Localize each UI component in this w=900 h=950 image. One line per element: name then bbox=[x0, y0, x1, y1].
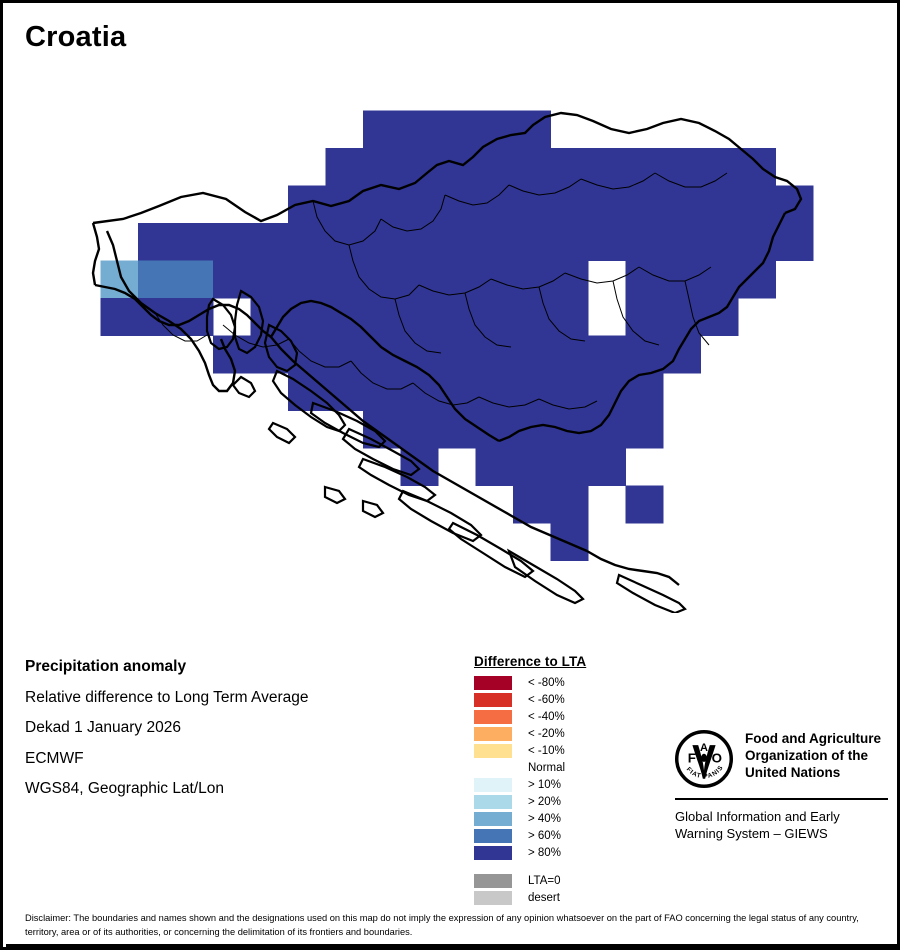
legend-item-swatch bbox=[474, 727, 512, 741]
raster-cell bbox=[738, 186, 776, 224]
fao-name-line-1: Food and Agriculture bbox=[745, 730, 881, 747]
raster-cell bbox=[251, 223, 289, 261]
raster-cell bbox=[626, 486, 664, 524]
raster-cell bbox=[663, 223, 701, 261]
raster-cell bbox=[663, 186, 701, 224]
raster-cell bbox=[176, 223, 214, 261]
svg-text:O: O bbox=[712, 750, 722, 765]
raster-cell bbox=[551, 411, 589, 449]
legend-item-label: Normal bbox=[528, 762, 565, 774]
legend-item-row[interactable]: < -80% bbox=[474, 674, 664, 691]
raster-cell bbox=[551, 223, 589, 261]
raster-cell bbox=[701, 186, 739, 224]
meta-line-period: Dekad 1 January 2026 bbox=[25, 719, 455, 737]
svg-text:F: F bbox=[688, 750, 696, 765]
raster-cell bbox=[588, 148, 626, 186]
raster-cell bbox=[288, 336, 326, 374]
raster-cell bbox=[551, 298, 589, 336]
legend-item-swatch bbox=[474, 744, 512, 758]
legend-item-swatch bbox=[474, 846, 512, 860]
raster-cell bbox=[326, 148, 364, 186]
legend-item-swatch bbox=[474, 676, 512, 690]
fao-name-line-3: United Nations bbox=[745, 764, 881, 781]
meta-line-projection: WGS84, Geographic Lat/Lon bbox=[25, 780, 455, 798]
legend-extra-list: LTA=0desert bbox=[474, 872, 664, 906]
legend-spacer bbox=[474, 861, 664, 872]
legend-item-swatch bbox=[474, 761, 512, 775]
legend-item-label: < -60% bbox=[528, 694, 565, 706]
raster-cell bbox=[288, 223, 326, 261]
raster-cell bbox=[476, 111, 514, 149]
legend-item-label: > 10% bbox=[528, 779, 561, 791]
legend-item-row[interactable]: < -60% bbox=[474, 691, 664, 708]
legend-item-swatch bbox=[474, 693, 512, 707]
raster-cell bbox=[476, 261, 514, 299]
raster-cell bbox=[551, 186, 589, 224]
raster-cell bbox=[401, 298, 439, 336]
raster-cell bbox=[438, 336, 476, 374]
raster-cell bbox=[588, 448, 626, 486]
raster-cell bbox=[438, 298, 476, 336]
raster-cell bbox=[626, 411, 664, 449]
legend-extra-label: desert bbox=[528, 892, 560, 904]
raster-cell bbox=[363, 111, 401, 149]
raster-cell bbox=[401, 111, 439, 149]
legend-item-row[interactable]: > 10% bbox=[474, 776, 664, 793]
legend-item-row[interactable]: Normal bbox=[474, 759, 664, 776]
map-canvas[interactable] bbox=[63, 73, 853, 613]
fao-branding: F A O FIAT PANIS Food and Agriculture Or… bbox=[675, 730, 890, 843]
raster-cell bbox=[626, 223, 664, 261]
map-metadata: Precipitation anomaly Relative differenc… bbox=[25, 658, 455, 811]
raster-cell bbox=[138, 223, 176, 261]
raster-cell bbox=[513, 186, 551, 224]
raster-cell bbox=[588, 186, 626, 224]
legend-item-label: < -80% bbox=[528, 677, 565, 689]
fao-divider bbox=[675, 798, 888, 800]
legend-item-swatch bbox=[474, 795, 512, 809]
raster-cell bbox=[438, 148, 476, 186]
raster-cell bbox=[213, 223, 251, 261]
legend-item-row[interactable]: > 60% bbox=[474, 827, 664, 844]
raster-cell bbox=[588, 223, 626, 261]
raster-cell bbox=[476, 373, 514, 411]
raster-cell bbox=[513, 411, 551, 449]
raster-cell bbox=[701, 148, 739, 186]
raster-cell bbox=[513, 486, 551, 524]
disclaimer-rule bbox=[6, 944, 900, 947]
legend-extra-row[interactable]: desert bbox=[474, 889, 664, 906]
legend-item-list: < -80%< -60%< -40%< -20%< -10%Normal> 10… bbox=[474, 674, 664, 861]
legend-item-swatch bbox=[474, 829, 512, 843]
raster-cell bbox=[326, 261, 364, 299]
raster-cell bbox=[251, 261, 289, 299]
raster-cell bbox=[663, 261, 701, 299]
raster-cell bbox=[326, 336, 364, 374]
raster-cell bbox=[513, 448, 551, 486]
legend-item-row[interactable]: < -10% bbox=[474, 742, 664, 759]
raster-cell bbox=[701, 261, 739, 299]
raster-cell bbox=[326, 298, 364, 336]
legend-title: Difference to LTA bbox=[474, 654, 664, 669]
giews-line-2: Warning System – GIEWS bbox=[675, 826, 890, 843]
raster-cell bbox=[738, 223, 776, 261]
legend-item-row[interactable]: < -20% bbox=[474, 725, 664, 742]
legend-item-label: < -40% bbox=[528, 711, 565, 723]
meta-line-product: Precipitation anomaly bbox=[25, 658, 455, 676]
raster-cell bbox=[588, 336, 626, 374]
raster-cell bbox=[438, 223, 476, 261]
raster-cell bbox=[401, 448, 439, 486]
raster-cell bbox=[438, 261, 476, 299]
raster-cell bbox=[738, 261, 776, 299]
legend-extra-label: LTA=0 bbox=[528, 875, 561, 887]
raster-cell bbox=[401, 186, 439, 224]
legend-item-swatch bbox=[474, 812, 512, 826]
legend-item-row[interactable]: > 20% bbox=[474, 793, 664, 810]
map-page: Croatia bbox=[0, 0, 900, 950]
raster-cell bbox=[363, 223, 401, 261]
raster-cell bbox=[476, 336, 514, 374]
legend-item-label: > 40% bbox=[528, 813, 561, 825]
raster-cell bbox=[363, 336, 401, 374]
meta-line-description: Relative difference to Long Term Average bbox=[25, 689, 455, 707]
raster-cell bbox=[513, 223, 551, 261]
legend-item-swatch bbox=[474, 778, 512, 792]
disclaimer-text: Disclaimer: The boundaries and names sho… bbox=[25, 911, 885, 940]
raster-cell bbox=[626, 186, 664, 224]
legend-item-row[interactable]: < -40% bbox=[474, 708, 664, 725]
raster-cell bbox=[476, 298, 514, 336]
fao-name: Food and Agriculture Organization of the… bbox=[745, 730, 881, 781]
legend-item-label: > 60% bbox=[528, 830, 561, 842]
raster-cell bbox=[776, 223, 814, 261]
raster-cell bbox=[513, 261, 551, 299]
fao-name-line-2: Organization of the bbox=[745, 747, 881, 764]
raster-cell bbox=[738, 148, 776, 186]
raster-cell bbox=[363, 373, 401, 411]
page-title: Croatia bbox=[25, 21, 126, 54]
raster-cell bbox=[551, 448, 589, 486]
raster-cell bbox=[551, 523, 589, 561]
raster-cell bbox=[551, 148, 589, 186]
raster-cell bbox=[363, 298, 401, 336]
legend-item-swatch bbox=[474, 710, 512, 724]
giews-name: Global Information and Early Warning Sys… bbox=[675, 809, 890, 843]
svg-text:A: A bbox=[700, 742, 708, 754]
raster-cell bbox=[101, 298, 139, 336]
raster-cell bbox=[288, 261, 326, 299]
croatia-anomaly-map[interactable] bbox=[63, 73, 853, 613]
raster-cell bbox=[626, 298, 664, 336]
raster-cell bbox=[551, 336, 589, 374]
legend-item-label: > 20% bbox=[528, 796, 561, 808]
raster-cell bbox=[363, 148, 401, 186]
raster-cell bbox=[401, 411, 439, 449]
raster-cell bbox=[176, 261, 214, 299]
legend-item-row[interactable]: > 80% bbox=[474, 844, 664, 861]
raster-cell bbox=[513, 298, 551, 336]
legend-item-label: > 80% bbox=[528, 847, 561, 859]
raster-cell bbox=[513, 148, 551, 186]
legend-item-row[interactable]: > 40% bbox=[474, 810, 664, 827]
legend: Difference to LTA < -80%< -60%< -40%< -2… bbox=[474, 654, 664, 906]
raster-cell bbox=[551, 486, 589, 524]
raster-cell bbox=[326, 186, 364, 224]
raster-cell bbox=[251, 336, 289, 374]
raster-cell bbox=[476, 186, 514, 224]
raster-cell bbox=[476, 148, 514, 186]
legend-item-label: < -10% bbox=[528, 745, 565, 757]
meta-line-source: ECMWF bbox=[25, 750, 455, 768]
raster-cell bbox=[701, 223, 739, 261]
raster-cell bbox=[438, 411, 476, 449]
legend-extra-row[interactable]: LTA=0 bbox=[474, 872, 664, 889]
giews-line-1: Global Information and Early bbox=[675, 809, 890, 826]
legend-extra-swatch bbox=[474, 891, 512, 905]
raster-cell bbox=[776, 186, 814, 224]
fao-logo-icon: F A O FIAT PANIS bbox=[675, 730, 733, 788]
raster-cell bbox=[401, 261, 439, 299]
legend-extra-swatch bbox=[474, 874, 512, 888]
raster-cell bbox=[438, 111, 476, 149]
raster-cell bbox=[626, 261, 664, 299]
raster-cell bbox=[476, 448, 514, 486]
raster-cell bbox=[363, 261, 401, 299]
raster-cell bbox=[663, 336, 701, 374]
legend-item-label: < -20% bbox=[528, 728, 565, 740]
raster-cell bbox=[138, 261, 176, 299]
raster-cell bbox=[663, 298, 701, 336]
raster-cell bbox=[476, 223, 514, 261]
raster-cell bbox=[363, 186, 401, 224]
raster-cell bbox=[513, 336, 551, 374]
raster-cell bbox=[401, 223, 439, 261]
